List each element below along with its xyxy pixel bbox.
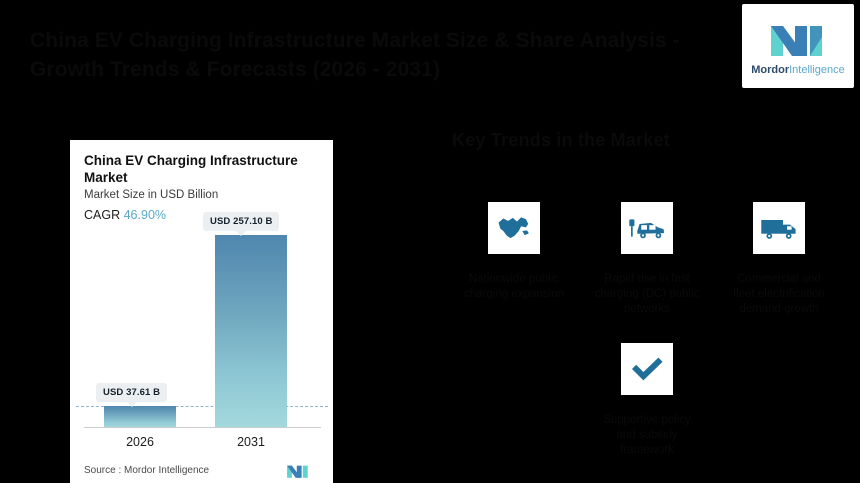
- bar-value-label-2031: USD 257.10 B: [203, 212, 279, 231]
- ev-charging-car-icon: [627, 213, 667, 243]
- chart-source: Source : Mordor Intelligence: [84, 465, 209, 476]
- trend-caption-1: Nationwide public charging expansion: [439, 272, 589, 302]
- mordor-intelligence-logo: MordorIntelligence: [742, 4, 854, 88]
- trend-icon-box-1: [488, 202, 540, 254]
- trend-caption-4: Supportive policy and subsidy framework: [572, 413, 722, 458]
- page-title: China EV Charging Infrastructure Market …: [30, 26, 720, 84]
- x-axis-baseline: [84, 427, 321, 428]
- x-tick-2031: 2031: [206, 435, 296, 449]
- trend-icon-box-3: [753, 202, 805, 254]
- trend-icon-box-2: [621, 202, 673, 254]
- mordor-logo-mark: [768, 17, 828, 59]
- bar-2031: [215, 235, 287, 427]
- bar-value-label-2026: USD 37.61 B: [96, 383, 167, 402]
- bar-chart-plot: USD 37.61 B USD 257.10 B 2026 2031: [70, 140, 333, 483]
- trend-icon-box-4: [621, 343, 673, 395]
- trend-caption-3: Commercial and fleet electrification dem…: [704, 272, 854, 317]
- card-mordor-logo-icon: [285, 462, 311, 479]
- logo-word-intelligence: Intelligence: [789, 64, 845, 76]
- checkmark-icon: [629, 354, 665, 384]
- commercial-truck-icon: [759, 214, 799, 242]
- trends-heading: Key Trends in the Market: [452, 128, 852, 152]
- x-tick-2026: 2026: [95, 435, 185, 449]
- bar-2026: [104, 406, 176, 427]
- mordor-logo-wordmark: MordorIntelligence: [751, 64, 845, 76]
- china-map-icon: [495, 213, 533, 243]
- infographic-canvas: China EV Charging Infrastructure Market …: [0, 0, 860, 483]
- trend-caption-2: Rapid rise in fast charging (DC) public …: [572, 272, 722, 317]
- logo-word-mordor: Mordor: [751, 64, 789, 76]
- chart-card: China EV Charging Infrastructure Market …: [70, 140, 333, 483]
